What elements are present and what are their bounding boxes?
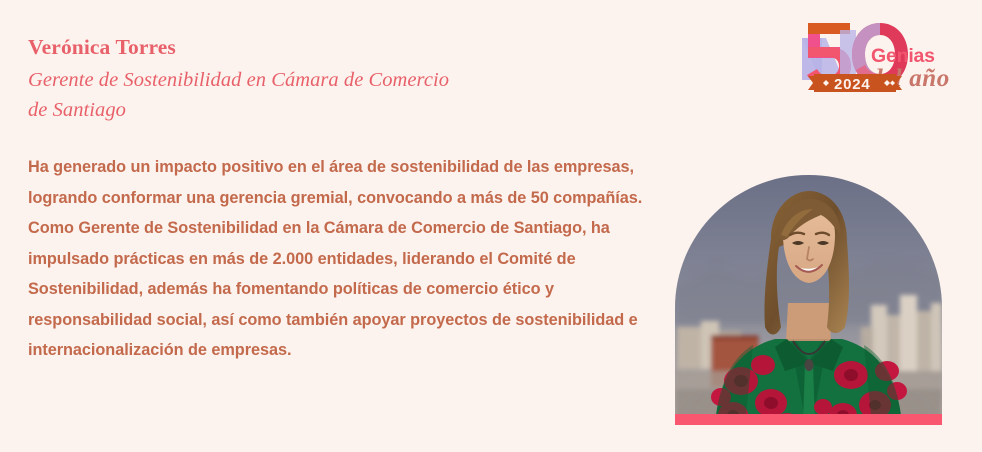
profile-role: Gerente de Sostenibilidad en Cámara de C… — [28, 65, 628, 126]
genias-profile-card: Verónica Torres Gerente de Sostenibilida… — [0, 0, 982, 452]
page-title: Verónica Torres — [28, 34, 628, 61]
portrait-image: Retrato — [675, 175, 942, 425]
profile-header: Verónica Torres Gerente de Sostenibilida… — [28, 34, 628, 125]
logo-year-ribbon: 2024 — [808, 74, 902, 93]
logo-genias-text: Genias — [871, 45, 935, 67]
logo-year-text: 2024 — [834, 76, 871, 93]
profile-role-line-1: Gerente de Sostenibilidad en Cámara de C… — [28, 69, 449, 91]
portrait-baseline-bar — [675, 414, 942, 425]
profile-bio: Ha generado un impacto positivo en el ár… — [28, 152, 646, 366]
profile-portrait: Retrato — [675, 175, 942, 425]
genias-del-ano-logo: Genias del año 2024 — [796, 14, 972, 96]
profile-role-line-2: de Santiago — [28, 99, 126, 121]
